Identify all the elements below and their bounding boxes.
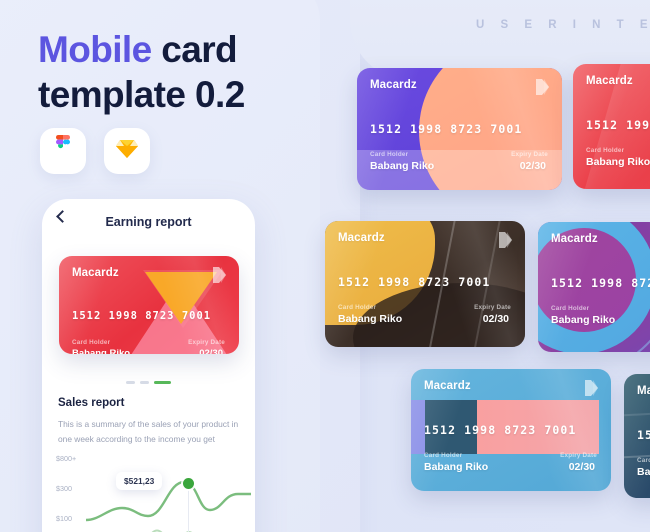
- card-expiry-value: 02/30: [483, 313, 509, 325]
- screenshot-root: Mobile card template 0.2 U S E R I N T E: [0, 0, 650, 532]
- card-expiry-label: Expiry Date: [560, 452, 597, 459]
- line-decoration-1: [624, 401, 650, 416]
- card-holder-value: Babang Riko: [424, 461, 488, 473]
- figma-badge[interactable]: [40, 128, 86, 174]
- headline-line2: template 0.2: [38, 74, 245, 115]
- card-expiry-label: Expiry Date: [511, 151, 548, 158]
- card-holder-label: Card Holder: [338, 304, 376, 311]
- chart-ytick-2: $100: [56, 514, 72, 523]
- chart-active-point-marker[interactable]: [183, 478, 194, 489]
- card-brand: Macardz: [338, 232, 385, 244]
- sales-report-section: Sales report This is a summary of the sa…: [58, 397, 239, 446]
- card-holder-label: Card Holder: [637, 457, 650, 464]
- card-holder-value: Babang Riko: [370, 160, 434, 172]
- card-holder-label: Card Holder: [72, 339, 110, 346]
- card-logo-icon: [212, 266, 227, 284]
- card-expiry-value: 02/30: [520, 160, 546, 172]
- card-holder-value: Babang Riko: [72, 348, 130, 354]
- card-brand: Macardz: [370, 79, 417, 91]
- card-holder-value: Babang Riko: [637, 466, 650, 478]
- sales-report-description: This is a summary of the sales of your p…: [58, 417, 239, 446]
- card-holder-value: Babang Riko: [586, 156, 650, 168]
- phone-screen-title: Earning report: [105, 215, 191, 229]
- card-expiry-label: Expiry Date: [474, 304, 511, 311]
- card-red-phone[interactable]: Macardz 1512 1998 8723 7001 Card Holder …: [59, 256, 239, 354]
- card-logo-icon: [584, 379, 599, 397]
- sketch-icon: [115, 138, 139, 165]
- card-holder-label: Card Holder: [551, 305, 589, 312]
- card-expiry-value: 02/30: [199, 348, 223, 354]
- card-holder-value: Babang Riko: [551, 314, 615, 326]
- card-blue-pink[interactable]: Macardz 1512 1998 8723 7001 Card Holder …: [411, 369, 611, 491]
- figma-icon: [53, 135, 73, 168]
- card-brand: Macardz: [586, 75, 633, 87]
- card-holder-label: Card Holder: [586, 147, 624, 154]
- card-expiry-label: Expiry Date: [188, 339, 225, 346]
- watermark-text: U S E R I N T E: [476, 19, 650, 31]
- card-red[interactable]: Macardz 1512 1998 8723 7001 Card Holder …: [573, 64, 650, 189]
- sketch-badge[interactable]: [104, 128, 150, 174]
- card-brand: Macardz: [551, 233, 598, 245]
- card-number: 1512 1998 8723 7001: [370, 122, 522, 136]
- card-holder-label: Card Holder: [370, 151, 408, 158]
- card-number: 1512 1998 8723 7001: [338, 275, 490, 289]
- back-chevron-icon[interactable]: [56, 210, 69, 223]
- chart-crosshair-line: [188, 484, 189, 532]
- card-number: 1512 1998 8723 7001: [551, 276, 650, 290]
- card-brand: Macardz: [424, 380, 471, 392]
- card-logo-icon: [498, 231, 513, 249]
- phone-mockup: Earning report Macardz 1512 1998 8723 70…: [42, 199, 255, 532]
- headline-accent-word: Mobile: [38, 29, 152, 70]
- card-purple-orange[interactable]: Macardz 1512 1998 8723 7001 Card Holder …: [357, 68, 562, 190]
- chart-line-svg: [86, 454, 251, 532]
- chart-ytick-1: $300: [56, 484, 72, 493]
- card-brand: Macardz: [637, 385, 650, 397]
- pagination-dot-2[interactable]: [140, 381, 149, 384]
- card-expiry-value: 02/30: [569, 461, 595, 473]
- card-brown-gold[interactable]: Macardz 1512 1998 8723 7001 Card Holder …: [325, 221, 525, 347]
- phone-header: Earning report: [42, 199, 255, 245]
- card-number: 1512 1998 8723 7001: [637, 428, 650, 442]
- card-holder-value: Babang Riko: [338, 313, 402, 325]
- sales-report-title: Sales report: [58, 397, 239, 409]
- pagination-dot-1[interactable]: [126, 381, 135, 384]
- tool-badges: [40, 128, 150, 174]
- card-violet-cyan[interactable]: Macardz 1512 1998 8723 7001 Card Holder …: [538, 222, 650, 352]
- card-navy[interactable]: Macardz 1512 1998 8723 7001 Card Holder …: [624, 374, 650, 498]
- pagination-dot-3-active[interactable]: [154, 381, 171, 384]
- chart-tooltip: $521,23: [116, 472, 162, 490]
- headline-rest-line1: card: [152, 29, 237, 70]
- card-logo-icon: [535, 78, 550, 96]
- card-number: 1512 1998 8723 7001: [72, 310, 211, 322]
- sales-chart[interactable]: $800+ $300 $100 $521,23: [56, 454, 255, 532]
- carousel-pagination[interactable]: [42, 381, 255, 384]
- card-holder-label: Card Holder: [424, 452, 462, 459]
- chart-ytick-0: $800+: [56, 454, 76, 463]
- card-number: 1512 1998 8723 7001: [586, 118, 650, 132]
- card-number: 1512 1998 8723 7001: [424, 423, 576, 437]
- card-brand: Macardz: [72, 267, 119, 279]
- page-title: Mobile card template 0.2: [38, 27, 328, 117]
